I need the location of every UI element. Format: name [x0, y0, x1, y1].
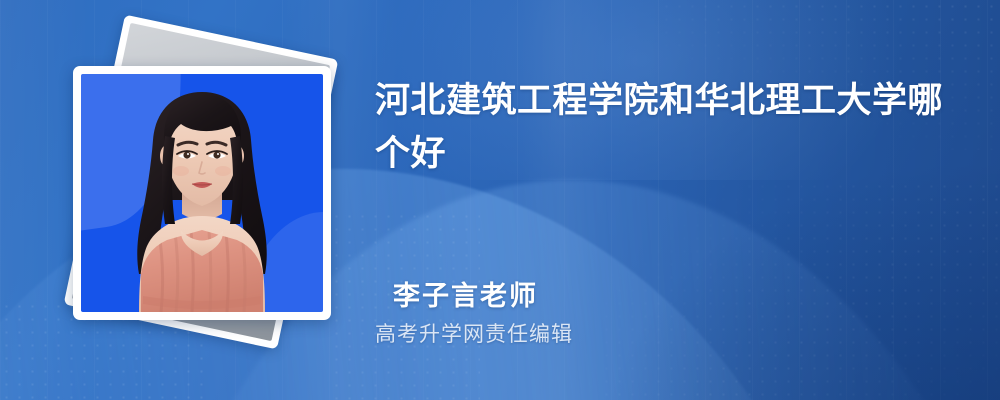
banner-image: 河北建筑工程学院和华北理工大学哪个好 李子言老师 高考升学网责任编辑	[0, 0, 1000, 400]
page-title: 河北建筑工程学院和华北理工大学哪个好	[375, 74, 955, 180]
portrait-illustration	[81, 74, 323, 312]
photo-card-front	[73, 66, 331, 320]
portrait-photo	[81, 74, 323, 312]
author-name: 李子言老师	[393, 274, 538, 313]
author-role: 高考升学网责任编辑	[375, 318, 573, 348]
photo-card-stack	[50, 28, 350, 358]
text-block: 河北建筑工程学院和华北理工大学哪个好 李子言老师 高考升学网责任编辑	[375, 0, 975, 400]
